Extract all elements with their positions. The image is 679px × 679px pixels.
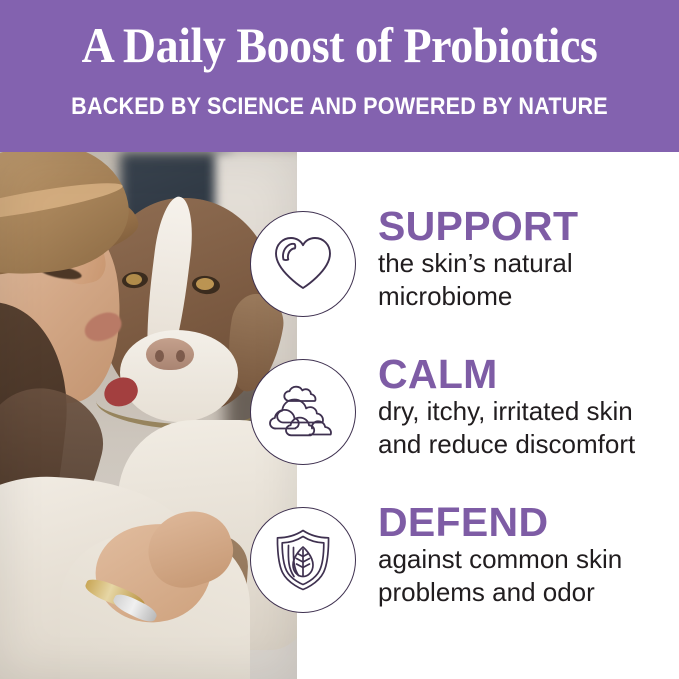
benefit-defend-text: DEFEND against common skin problems and … [378, 501, 622, 609]
clouds-icon-badge [250, 359, 356, 465]
benefit-defend-body-line2: problems and odor [378, 576, 622, 609]
benefit-support-body-line2: microbiome [378, 280, 578, 313]
benefit-calm-heading: CALM [378, 353, 635, 395]
benefit-calm-text: CALM dry, itchy, irritated skin and redu… [378, 353, 635, 461]
benefit-defend-body-line1: against common skin [378, 543, 622, 576]
shield-leaf-icon [272, 528, 334, 592]
heart-icon [271, 234, 335, 294]
benefit-calm-body-line2: and reduce discomfort [378, 428, 635, 461]
heart-icon-badge [250, 211, 356, 317]
benefit-defend-heading: DEFEND [378, 501, 622, 543]
clouds-icon [269, 384, 337, 440]
page-title: A Daily Boost of Probiotics [27, 16, 652, 74]
benefit-support-body-line1: the skin’s natural [378, 247, 578, 280]
benefit-support-text: SUPPORT the skin’s natural microbiome [378, 205, 578, 313]
benefit-support-heading: SUPPORT [378, 205, 578, 247]
benefit-calm-body-line1: dry, itchy, irritated skin [378, 395, 635, 428]
product-infographic: A Daily Boost of Probiotics BACKED BY SC… [0, 0, 679, 679]
page-subtitle: BACKED BY SCIENCE AND POWERED BY NATURE [34, 93, 645, 121]
shield-leaf-icon-badge [250, 507, 356, 613]
header-banner: A Daily Boost of Probiotics BACKED BY SC… [0, 0, 679, 152]
